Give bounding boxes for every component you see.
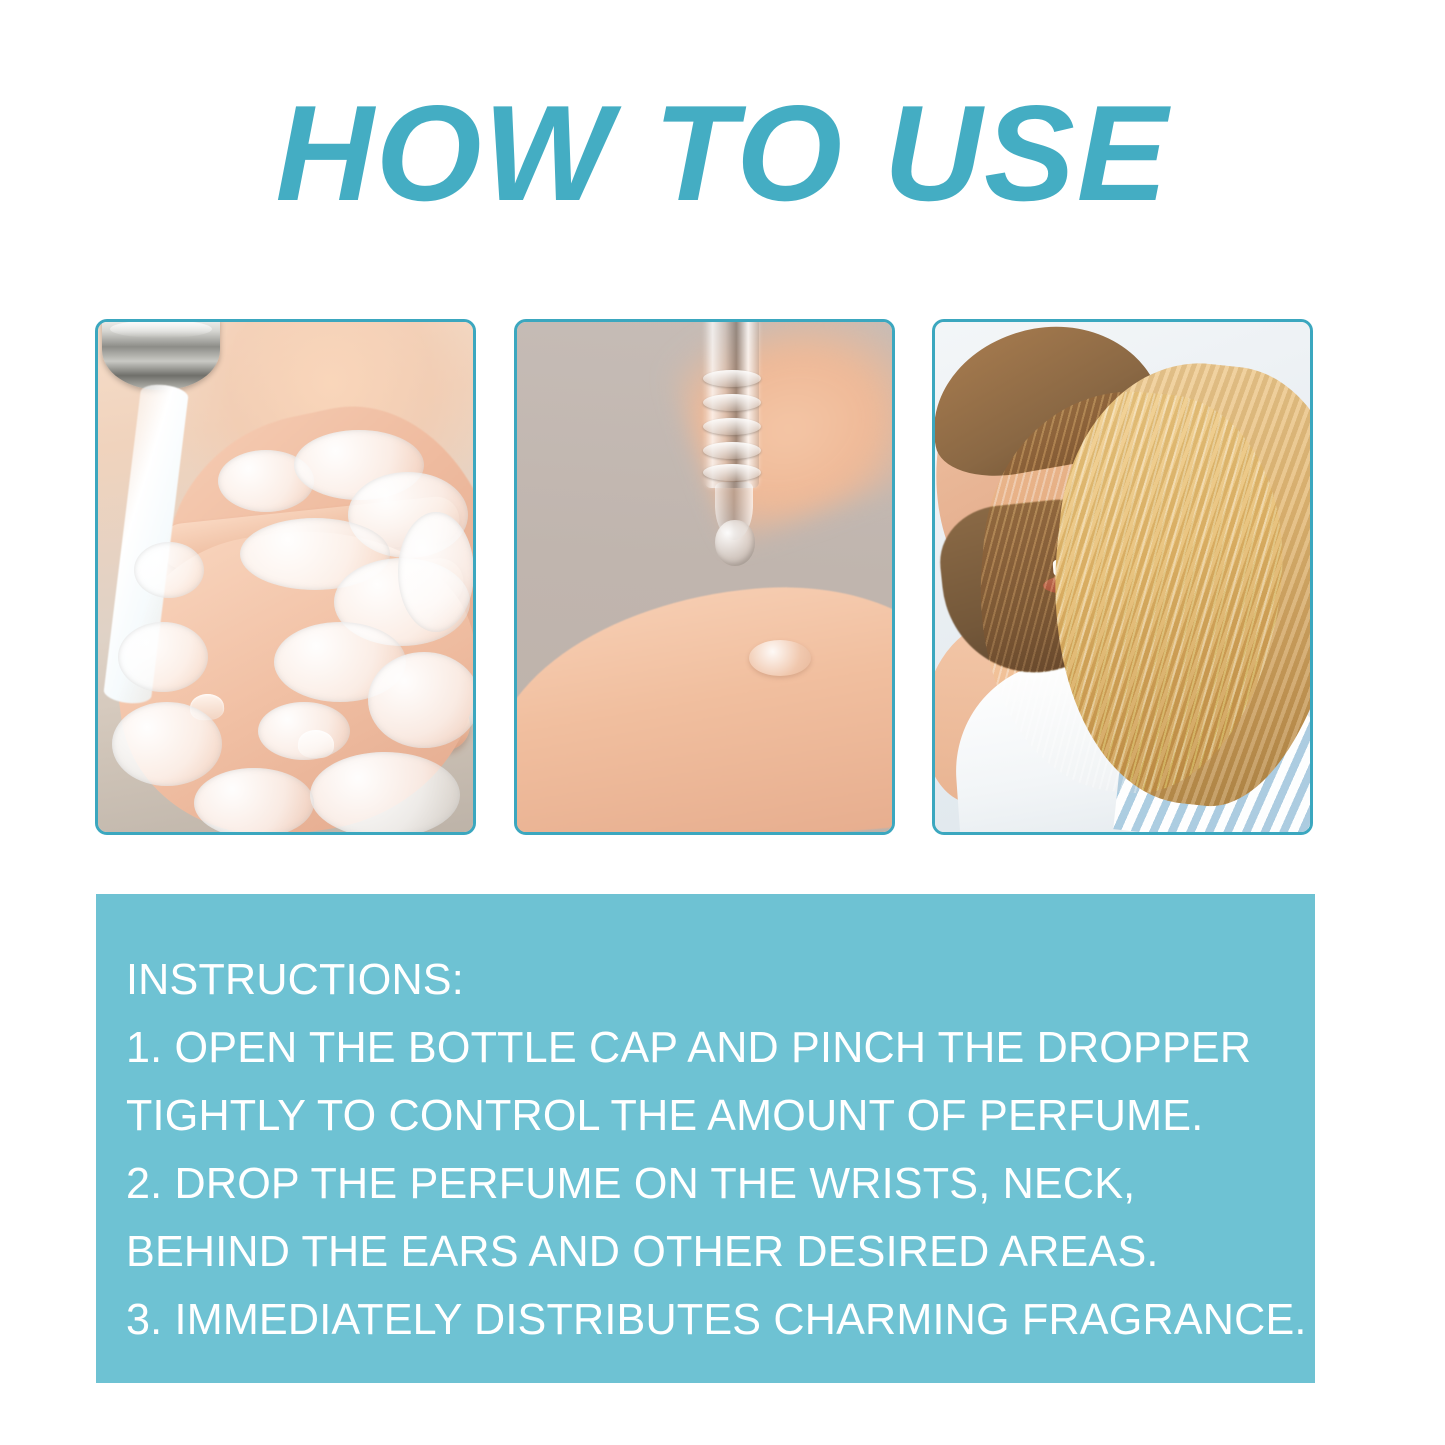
- instructions-panel: INSTRUCTIONS: 1. OPEN THE BOTTLE CAP AND…: [96, 894, 1315, 1383]
- soap-foam: [134, 542, 204, 598]
- wash-hands-illustration: [98, 322, 473, 832]
- perfume-drop: [715, 520, 755, 566]
- dropper-photo: [514, 319, 895, 835]
- soap-foam: [258, 702, 350, 760]
- soap-foam: [112, 702, 222, 786]
- soap-foam: [118, 622, 208, 692]
- soap-foam: [194, 768, 314, 832]
- instruction-step-3: 3. IMMEDIATELY DISTRIBUTES CHARMING FRAG…: [126, 1286, 1262, 1354]
- soap-foam: [310, 752, 460, 832]
- soap-foam: [368, 652, 473, 748]
- photo-gallery: [95, 319, 1313, 835]
- couple-illustration: [935, 322, 1310, 832]
- drop-on-skin: [749, 640, 811, 676]
- instruction-step-2b: BEHIND THE EARS AND OTHER DESIRED AREAS.: [126, 1218, 1262, 1286]
- dropper-illustration: [517, 322, 892, 832]
- instruction-step-1a: 1. OPEN THE BOTTLE CAP AND PINCH THE DRO…: [126, 1014, 1262, 1082]
- instruction-step-2a: 2. DROP THE PERFUME ON THE WRISTS, NECK,: [126, 1150, 1262, 1218]
- soap-foam: [398, 512, 473, 632]
- couple-photo: [932, 319, 1313, 835]
- instruction-step-1b: TIGHTLY TO CONTROL THE AMOUNT OF PERFUME…: [126, 1082, 1262, 1150]
- instructions-heading: INSTRUCTIONS:: [126, 946, 1262, 1014]
- wash-hands-photo: [95, 319, 476, 835]
- page-title: HOW TO USE: [0, 78, 1445, 228]
